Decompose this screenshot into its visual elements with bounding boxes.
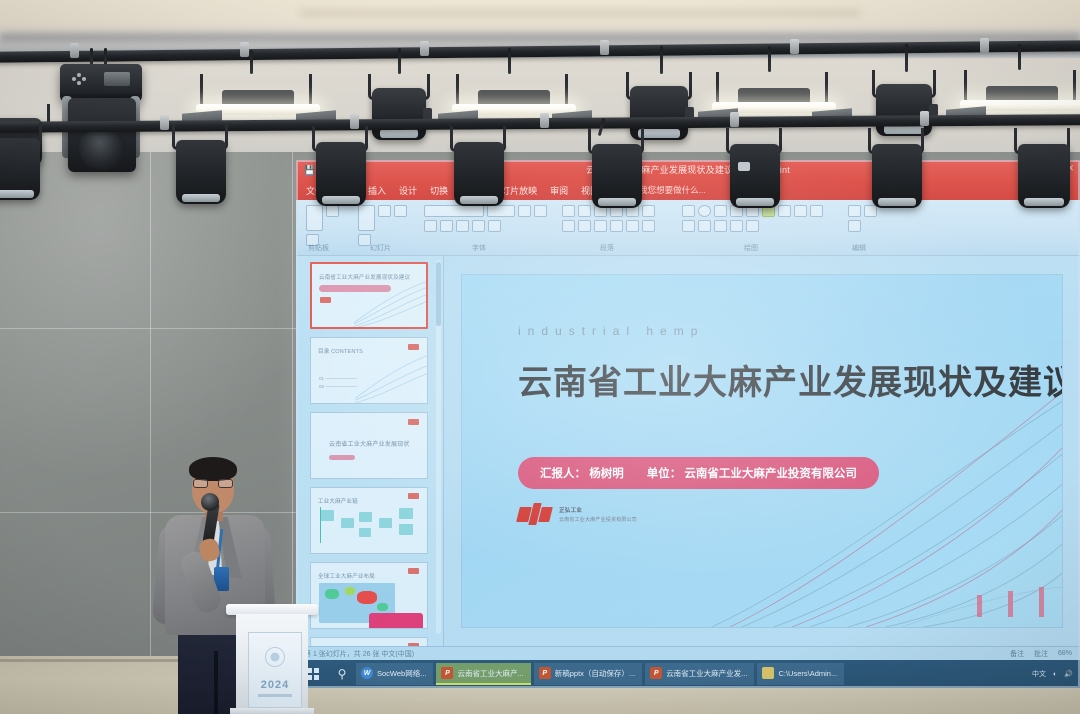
slide-thumbnail-1[interactable]: 1 云南省工业大麻产业发展现状及建议 [310,262,428,329]
map-region [377,603,388,611]
map-region [345,587,355,595]
tab-insert[interactable]: 插入 [368,184,386,197]
ribbon-label-clipboard: 剪贴板 [308,243,329,253]
search-icon[interactable]: ⚲ [328,660,356,688]
find-icon[interactable] [848,205,861,217]
powerpoint-status-bar[interactable]: 第 1 张幻灯片，共 26 张 中文(中国) 备注 批注 68% [296,646,1080,660]
logo-company-short: 正弘工业 [559,506,637,514]
shape-star-icon[interactable] [778,205,791,217]
circle-emblem-icon [265,647,285,667]
stage-photo: 💾 ↶ ↷ 云南省工业大麻产业发展现状及建议 - PowerPoint – □ … [0,0,1080,714]
taskbar-item-label: 新稿pptx（自动保存）... [555,668,635,679]
tray-network-icon[interactable]: ◐ [1053,671,1057,678]
ceiling-highlight-streak [300,8,860,18]
flow-node [399,508,413,519]
par-can-light [730,144,780,208]
slide-thumbnail-panel[interactable]: 1 云南省工业大麻产业发展现状及建议 [296,256,444,646]
powerpoint-window: 💾 ↶ ↷ 云南省工业大麻产业发展现状及建议 - PowerPoint – □ … [296,160,1080,660]
zoom-level[interactable]: 68% [1058,650,1072,657]
ribbon-group-drawing[interactable] [682,205,830,232]
glasses-icon [193,479,233,488]
thumb-logo-icon [320,297,331,303]
par-can-light [0,138,40,200]
shape-oval-icon[interactable] [698,205,711,217]
taskbar-item-powerpoint-3[interactable]: P 云南省工业大麻产业发... [645,663,754,685]
taskbar-item-folder[interactable]: C:\Users\Admin... [757,663,844,685]
text-direction-icon[interactable] [626,220,639,232]
slide-thumbnail-6[interactable]: 6 全球工业大麻产业政策对比 ————————— ————————— —————… [310,637,428,646]
numbering-icon[interactable] [578,205,591,217]
quick-styles-icon[interactable] [698,220,711,232]
select-icon[interactable] [848,220,861,232]
shadow-icon[interactable] [440,220,453,232]
taskbar-item-label: C:\Users\Admin... [778,669,837,678]
podium-base [230,708,314,714]
slide-editing-area[interactable]: industrial hemp 云南省工业大麻产业发展现状及建议 汇报人： 杨树… [444,256,1080,646]
document-title: 云南省工业大麻产业发展现状及建议 - PowerPoint [296,163,1080,176]
thumb-title: 工业大麻产业链 [318,497,358,505]
thumb-curves-decoration [355,351,427,403]
powerpoint-icon: P [539,667,551,679]
tab-review[interactable]: 审阅 [550,184,568,197]
taskbar-item-powerpoint-active[interactable]: P 云南省工业大麻产... [436,663,530,685]
align-right-icon[interactable] [578,220,591,232]
new-slide-icon[interactable] [358,205,375,231]
flow-node [359,512,372,522]
powerpoint-title-bar: 💾 ↶ ↷ 云南省工业大麻产业发展现状及建议 - PowerPoint – □ … [296,160,1080,180]
fixture-display [104,72,130,86]
map-region [325,589,339,599]
flow-axis [320,507,321,543]
par-can-light [176,140,226,204]
fresnel-spotlight [372,88,426,140]
podium-sign-rule [258,694,292,697]
align-left-icon[interactable] [642,205,655,217]
thumb-logo-icon [408,568,419,574]
presenter-hair [189,457,237,481]
moving-head-light [60,64,142,102]
ribbon-label-font: 字体 [472,243,486,253]
thumb-logo-icon [408,344,419,350]
map-region [357,591,377,604]
projection-screen: 💾 ↶ ↷ 云南省工业大麻产业发展现状及建议 - PowerPoint – □ … [296,160,1080,688]
cut-icon[interactable] [326,205,339,217]
layout-icon[interactable] [378,205,391,217]
company-logo: 正弘工业 云南省工业大麻产业投资有限公司 [518,503,637,525]
strikethrough-icon[interactable] [456,220,469,232]
reset-icon[interactable] [394,205,407,217]
ribbon-label-drawing: 绘图 [744,243,758,253]
thumb-pill [329,455,355,460]
wall-light-sheen [0,152,330,482]
shape-callout-icon[interactable] [794,205,807,217]
windows-taskbar[interactable]: ⚲ W SocWeb网络... P 云南省工业大麻产... P 新稿pptx（自… [296,660,1080,688]
par-can-light [872,144,922,208]
thumb-title: 云南省工业大麻产业发展现状 [329,439,410,448]
ribbon-body[interactable]: 剪贴板 幻灯片 [296,200,1080,256]
ribbon-group-paragraph[interactable] [562,205,670,232]
slide-thumbnail-5[interactable]: 5 全球工业大麻产业布局 [310,562,428,629]
italic-icon[interactable] [534,205,547,217]
justify-icon[interactable] [594,220,607,232]
flow-node [341,518,354,528]
slide-thumbnail-4[interactable]: 4 工业大麻产业链 [310,487,428,554]
flow-node [320,510,334,521]
bullets-icon[interactable] [562,205,575,217]
system-tray[interactable]: 中文 ◐ 🔊 [1032,669,1080,679]
slide-eyebrow-text: industrial hemp [518,324,704,338]
ribbon-group-font[interactable] [424,205,550,232]
presenter-text: 汇报人： 杨树明 单位： 云南省工业大麻产业投资有限公司 [540,468,857,480]
taskbar-item-browser[interactable]: W SocWeb网络... [356,663,433,685]
flow-node [359,528,371,537]
convert-smartart-icon[interactable] [642,220,655,232]
shape-more-icon[interactable] [746,220,759,232]
light-lens [79,126,125,170]
font-size-box[interactable] [487,205,515,217]
current-slide[interactable]: industrial hemp 云南省工业大麻产业发展现状及建议 汇报人： 杨树… [462,275,1062,627]
thumb-logo-icon [408,493,419,499]
logo-text-block: 正弘工业 云南省工业大麻产业投资有限公司 [559,506,637,523]
columns-icon[interactable] [610,220,623,232]
font-color-icon[interactable] [488,220,501,232]
ribbon-group-slides[interactable] [358,205,410,246]
map-callout [369,613,423,629]
paste-icon[interactable] [306,205,323,231]
par-can-light [592,144,642,208]
powerpoint-icon: P [441,667,453,679]
ribbon-label-editing: 编辑 [852,243,866,253]
presenter-pill: 汇报人： 杨树明 单位： 云南省工业大麻产业投资有限公司 [518,457,879,489]
logo-company-full: 云南省工业大麻产业投资有限公司 [559,516,637,523]
char-spacing-icon[interactable] [472,220,485,232]
underline-icon[interactable] [424,220,437,232]
thumb-subtext: 01 ——————— [319,376,357,381]
shape-arrow-icon[interactable] [714,205,727,217]
bold-icon[interactable] [518,205,531,217]
align-center-icon[interactable] [562,220,575,232]
font-name-box[interactable] [424,205,484,217]
shape-rect-icon[interactable] [682,205,695,217]
moving-head-body [68,98,136,172]
ribbon-label-slides: 幻灯片 [370,243,391,253]
thumb-logo-icon [408,643,419,646]
shape-outline-icon[interactable] [714,220,727,232]
thumb-curves-decoration [354,275,426,327]
taskbar-item-powerpoint-2[interactable]: P 新稿pptx（自动保存）... [534,663,642,685]
tab-design[interactable]: 设计 [399,184,417,197]
logo-mark-icon [518,503,552,525]
folder-icon [762,667,774,679]
browser-icon: W [361,667,373,679]
par-can-light [316,142,366,206]
replace-icon[interactable] [864,205,877,217]
status-right-group[interactable]: 备注 批注 68% [1010,649,1072,659]
podium: 2024 [226,604,318,714]
powerpoint-body: 1 云南省工业大麻产业发展现状及建议 [296,256,1080,646]
presenter-leg-split [214,651,218,714]
shape-effects-icon[interactable] [730,220,743,232]
thumb-subtext: 02 ——————— [319,384,357,389]
slide-bar-accents [977,587,1044,617]
podium-year-label: 2024 [261,679,289,691]
flow-node [399,524,413,535]
thumb-title: 全球工业大麻产业布局 [318,572,375,580]
slide-main-title: 云南省工业大麻产业发展现状及建议 [518,355,1062,404]
slide-thumbnail-2[interactable]: 2 目录 CONTENTS 01 ——————— 02 ——————— [310,337,428,404]
taskbar-item-label: SocWeb网络... [377,668,426,679]
ribbon-group-editing[interactable] [848,205,888,232]
ribbon-label-paragraph: 段落 [600,243,614,253]
thumb-logo-icon [408,419,419,425]
arrange-icon[interactable] [682,220,695,232]
shape-banner-icon[interactable] [810,205,823,217]
comments-button[interactable]: 批注 [1034,649,1048,659]
par-can-light [454,142,504,206]
notes-button[interactable]: 备注 [1010,649,1024,659]
tab-transition[interactable]: 切换 [430,184,448,197]
flow-node [379,518,392,528]
slide-count-status: 第 1 张幻灯片，共 26 张 中文(中国) [304,649,414,659]
taskbar-item-label: 云南省工业大麻产业发... [666,668,747,679]
ribbon-group-clipboard[interactable] [306,205,346,246]
powerpoint-icon: P [650,667,662,679]
tray-volume-icon[interactable]: 🔊 [1064,670,1073,678]
podium-sign: 2024 [248,632,302,708]
par-can-light [1018,144,1070,208]
thumbnail-scrollbar[interactable] [436,260,441,634]
taskbar-item-label: 云南省工业大麻产... [457,668,523,679]
slide-thumbnail-3[interactable]: 3 云南省工业大麻产业发展现状 [310,412,428,479]
tray-ime[interactable]: 中文 [1032,669,1046,679]
ribbon-tab-row[interactable]: 文件 开始 插入 设计 切换 动画 幻灯片放映 审阅 视图 告诉我您想要做什么.… [296,180,1080,200]
